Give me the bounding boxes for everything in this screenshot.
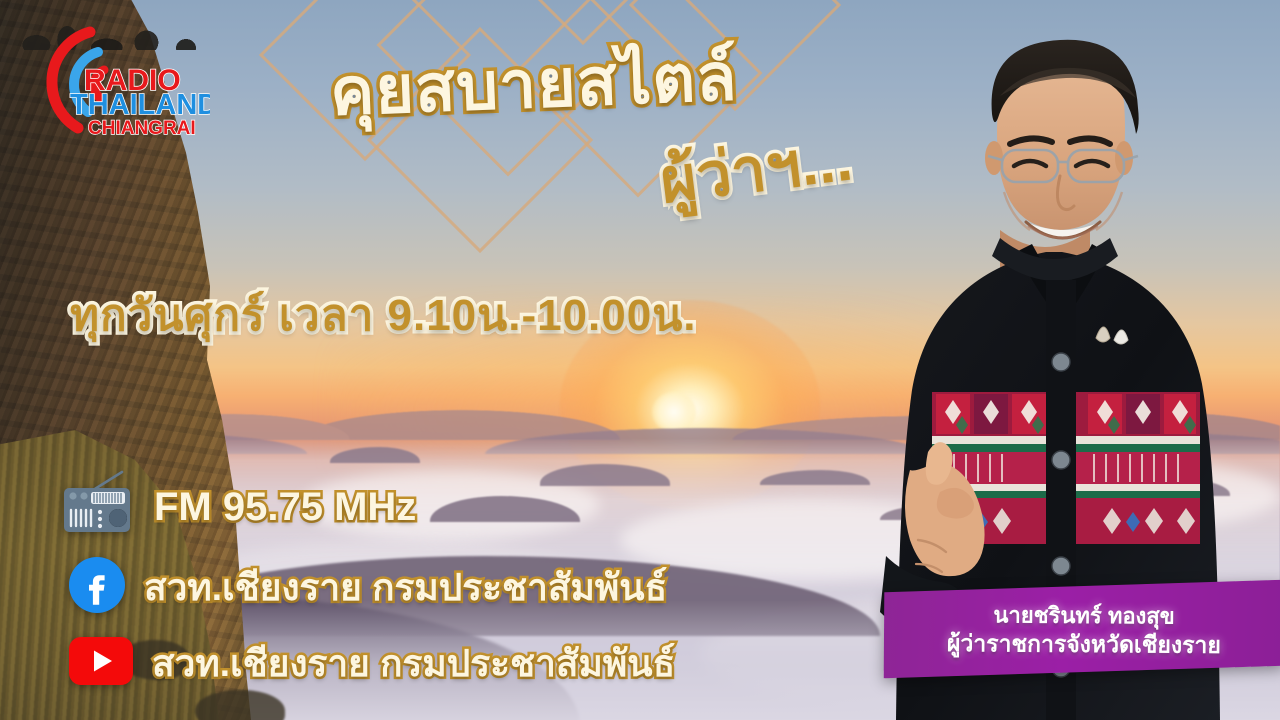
youtube-icon[interactable] (68, 636, 134, 691)
governor-name: นายชรินทร์ ทองสุข (993, 603, 1175, 630)
logo-text-thailand: THAILAND (70, 89, 210, 121)
contact-row-fm: FM 95.75 MHz (60, 470, 416, 545)
radio-icon (60, 470, 136, 545)
logo-text-chiangrai: CHIANGRAI (88, 118, 196, 139)
contact-row-youtube[interactable]: สวท.เชียงราย กรมประชาสัมพันธ์ (68, 634, 675, 693)
facebook-page-label: สวท.เชียงราย กรมประชาสัมพันธ์ (144, 558, 667, 617)
facebook-icon[interactable] (68, 556, 126, 619)
name-banner: นายชรินทร์ ทองสุข ผู้ว่าราชการจังหวัดเชี… (884, 580, 1280, 679)
contact-row-facebook[interactable]: สวท.เชียงราย กรมประชาสัมพันธ์ (68, 556, 667, 619)
governor-position: ผู้ว่าราชการจังหวัดเชียงราย (947, 630, 1221, 659)
promo-poster: RADIO THAILAND CHIANGRAI คุยสบายสไตล์ ผู… (0, 0, 1280, 720)
headline-title: คุยสบายสไตล์ (329, 42, 739, 128)
station-logo[interactable]: RADIO THAILAND CHIANGRAI (22, 18, 210, 140)
fm-frequency-label: FM 95.75 MHz (154, 485, 416, 530)
schedule-text: ทุกวันศุกร์ เวลา 9.10น.-10.00น. (70, 280, 697, 350)
youtube-channel-label: สวท.เชียงราย กรมประชาสัมพันธ์ (152, 634, 675, 693)
